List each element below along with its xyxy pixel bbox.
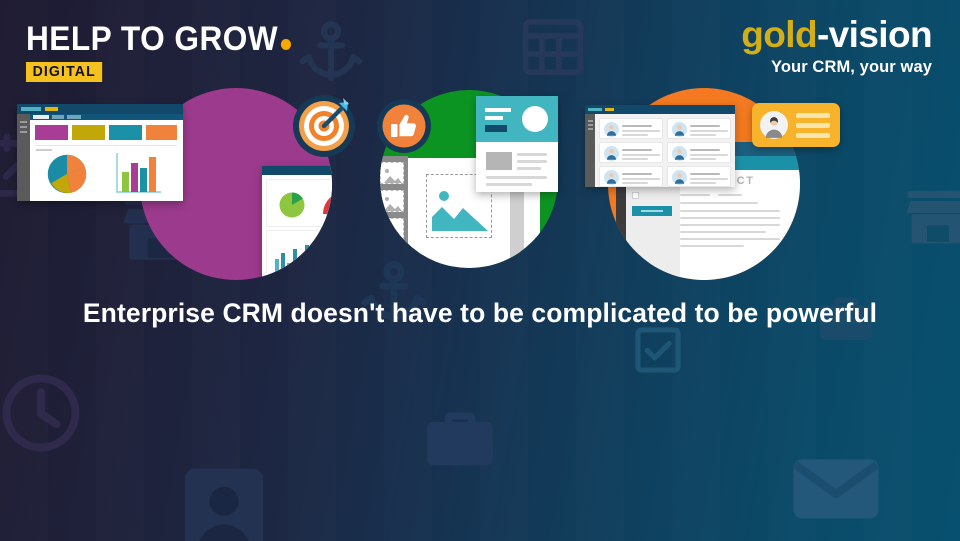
image-thumb-icon: [382, 195, 404, 211]
email-header-band: [476, 96, 558, 142]
contact-card[interactable]: [667, 118, 731, 139]
titlebar-chip: [21, 107, 41, 111]
analytics-gauge-card: [266, 179, 332, 227]
avatar-icon: [672, 146, 687, 161]
gold-vision-gold-text: gold: [741, 14, 817, 55]
help-to-grow-dot-icon: [281, 39, 291, 50]
contact-avatar-icon: [760, 111, 788, 139]
kpi-tile: [109, 125, 142, 140]
form-submit-button: [632, 206, 672, 216]
analytics-main-bar-chart: [115, 152, 163, 194]
gold-vision-vision-text: -vision: [817, 14, 932, 55]
mini-pie-chart-icon: [277, 190, 307, 220]
illustration-group: CONTRACT: [0, 80, 960, 285]
titlebar-chip: [45, 107, 58, 111]
contacts-sidebar: [585, 114, 595, 187]
help-to-grow-digital-badge: DIGITAL: [26, 62, 102, 82]
slide-canvas: HELP TO GROW DIGITAL gold-vision Your CR…: [0, 0, 960, 541]
kpi-tile: [146, 125, 177, 140]
help-to-grow-word-text: HELP TO GROW: [26, 20, 278, 58]
contacts-list-body: [595, 114, 735, 187]
avatar-icon: [672, 170, 687, 185]
avatar-icon: [672, 122, 687, 137]
help-to-grow-logo: HELP TO GROW DIGITAL: [26, 20, 311, 82]
gauge-icon: [323, 188, 332, 218]
analytics-sidebar: [17, 114, 30, 201]
analytics-titlebar: [17, 104, 183, 114]
contact-card[interactable]: [667, 142, 731, 163]
kpi-tile: [72, 125, 105, 140]
email-image-block: [486, 152, 512, 170]
avatar-icon: [604, 146, 619, 161]
contact-card[interactable]: [599, 166, 663, 187]
contacts-titlebar: [585, 105, 735, 114]
calendar-icon: [518, 12, 588, 82]
email-cta-button: [485, 125, 507, 132]
analytics-main-pie-chart: [45, 152, 89, 196]
email-avatar-circle: [522, 106, 548, 132]
briefcase-icon: [420, 398, 500, 478]
analytics-tabbar: [30, 114, 183, 120]
help-to-grow-wordmark: HELP TO GROW: [26, 20, 291, 58]
gold-vision-wordmark: gold-vision: [741, 14, 932, 56]
analytics-secondary-titlebar: [262, 166, 332, 175]
marketing-email-template-card: [476, 96, 558, 192]
contact-card[interactable]: [599, 142, 663, 163]
contact-card[interactable]: [599, 118, 663, 139]
contacts-list-window: [585, 105, 735, 187]
marketing-thumbnail-strip: [380, 156, 408, 268]
avatar-icon: [604, 122, 619, 137]
avatar-icon: [604, 170, 619, 185]
envelope-icon: [784, 436, 888, 540]
image-thumb-icon: [382, 167, 404, 183]
kpi-tile: [35, 125, 68, 140]
gold-vision-tagline: Your CRM, your way: [741, 58, 932, 77]
person-card-icon: [174, 462, 274, 541]
target-icon: [292, 94, 356, 158]
gold-vision-logo: gold-vision Your CRM, your way: [741, 14, 932, 77]
page-title: Enterprise CRM doesn't have to be compli…: [0, 298, 960, 329]
image-placeholder-icon: [432, 187, 488, 231]
analytics-secondary-window: [262, 166, 332, 280]
contact-card-icon: [752, 103, 840, 147]
mini-bar-chart-icon: [274, 243, 324, 275]
form-checkbox: [632, 192, 639, 199]
analytics-dashboard-window: [17, 104, 183, 201]
clock-icon: [0, 368, 86, 458]
analytics-lower-card: [266, 230, 332, 280]
contact-card[interactable]: [667, 166, 731, 187]
checkbox-icon: [630, 322, 686, 378]
thumbs-up-icon: [376, 98, 432, 154]
